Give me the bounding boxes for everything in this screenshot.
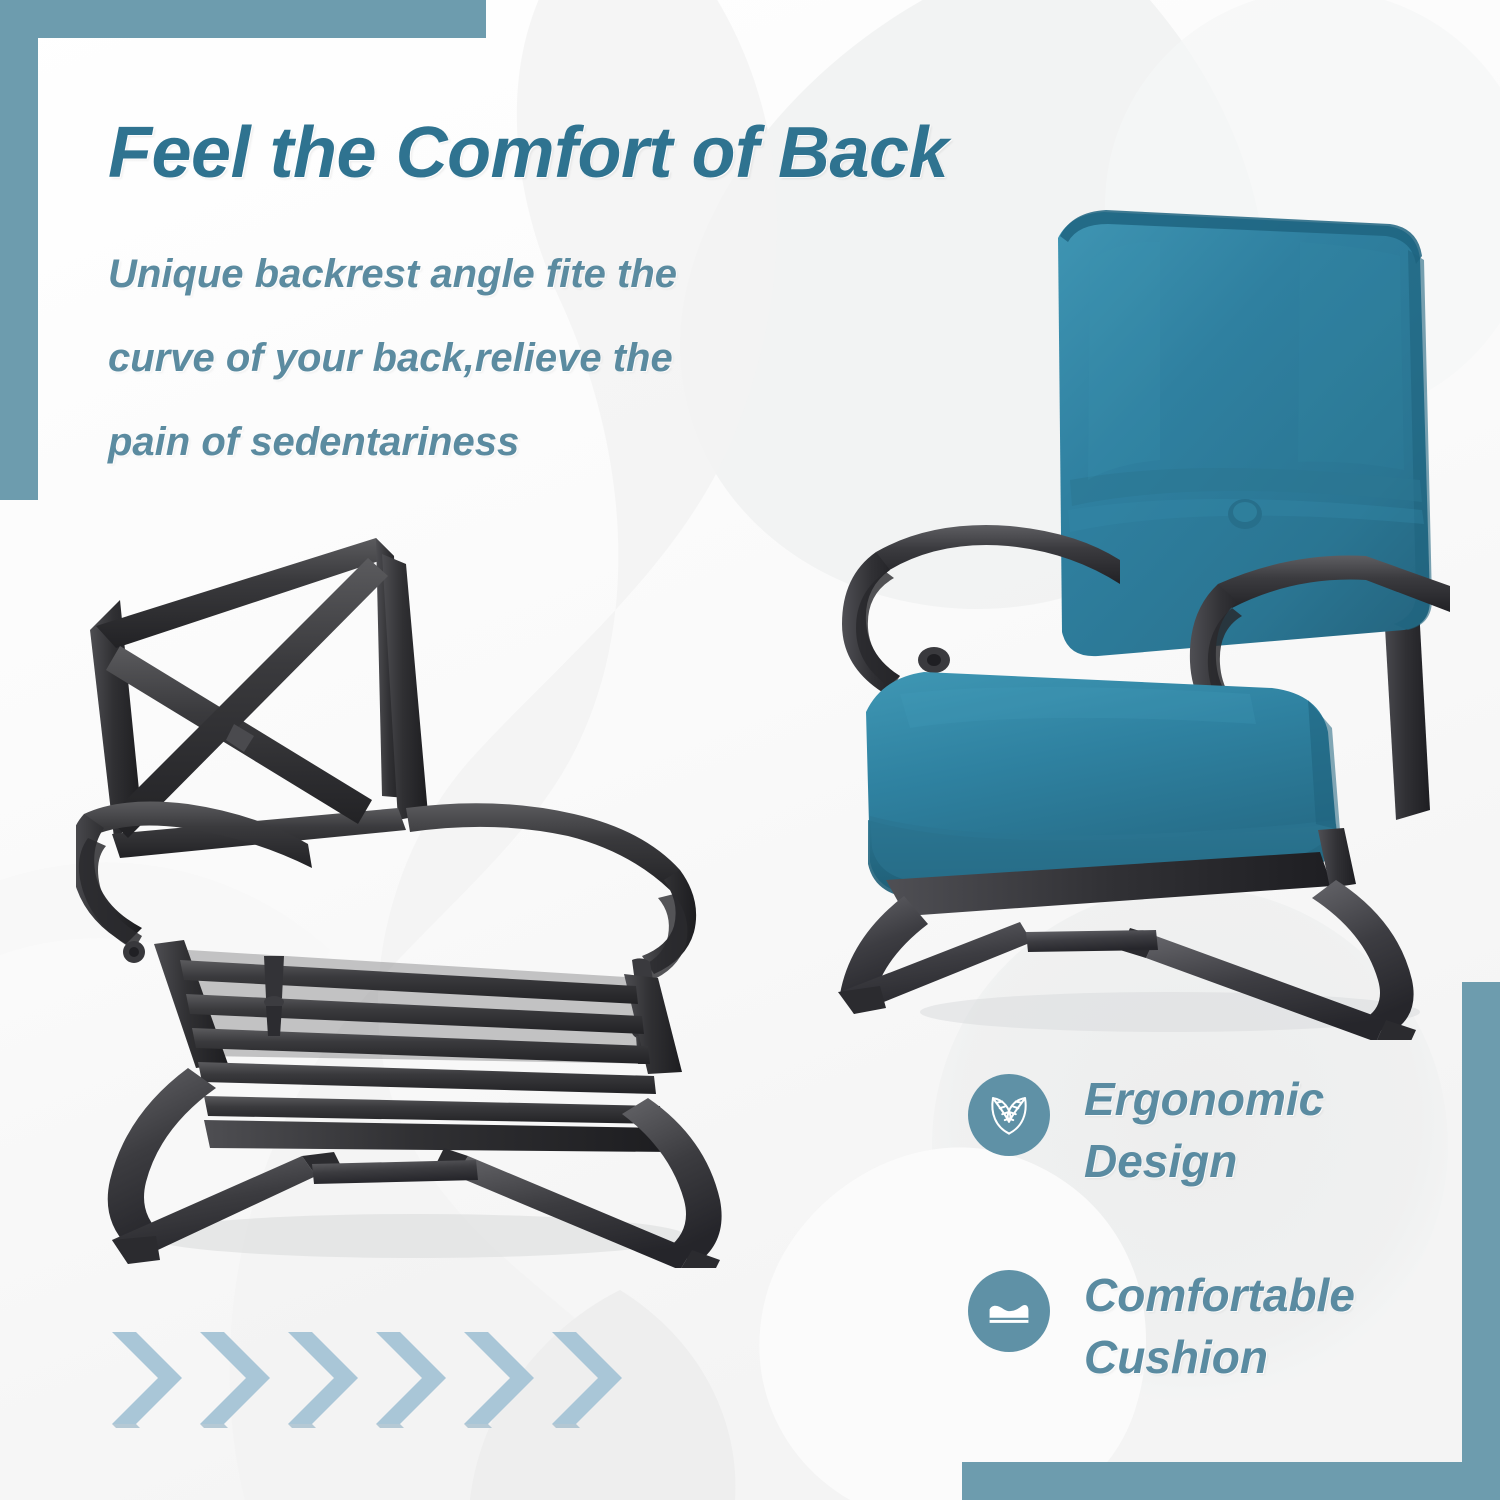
corner-bracket-bottom-right-horizontal <box>962 1462 1500 1500</box>
subheadline-line-1: Unique backrest angle fite the <box>108 232 677 316</box>
subheadline-line-2: curve of your back,relieve the <box>108 316 677 400</box>
chevron-right-icon <box>372 1328 458 1428</box>
subheadline-line-3: pain of sedentariness <box>108 400 677 484</box>
patio-chair-frame <box>76 508 756 1268</box>
corner-bracket-bottom-right-vertical <box>1462 982 1500 1500</box>
feature-list: Ergonomic Design Comfortable Cushion <box>968 1068 1355 1460</box>
chevron-right-icon <box>108 1328 194 1428</box>
feature-item-ergonomic-design: Ergonomic Design <box>968 1068 1355 1192</box>
leaf-icon <box>968 1074 1050 1156</box>
cushion-icon <box>968 1270 1050 1352</box>
corner-bracket-top-left-vertical <box>0 0 38 500</box>
subheadline: Unique backrest angle fite the curve of … <box>108 232 677 484</box>
feature-label-ergonomic-design: Ergonomic Design <box>1084 1068 1324 1192</box>
feature-label-comfortable-cushion: Comfortable Cushion <box>1084 1264 1355 1388</box>
chevron-right-icon <box>548 1328 634 1428</box>
feature-item-comfortable-cushion: Comfortable Cushion <box>968 1264 1355 1388</box>
patio-chair-cushioned <box>820 180 1480 1040</box>
chevron-right-icon <box>196 1328 282 1428</box>
corner-bracket-top-left-horizontal <box>0 0 486 38</box>
chevron-right-icon <box>284 1328 370 1428</box>
marketing-banner: Feel the Comfort of Back Unique backrest… <box>0 0 1500 1500</box>
page-title: Feel the Comfort of Back <box>108 112 948 194</box>
chevron-right-icon <box>460 1328 546 1428</box>
